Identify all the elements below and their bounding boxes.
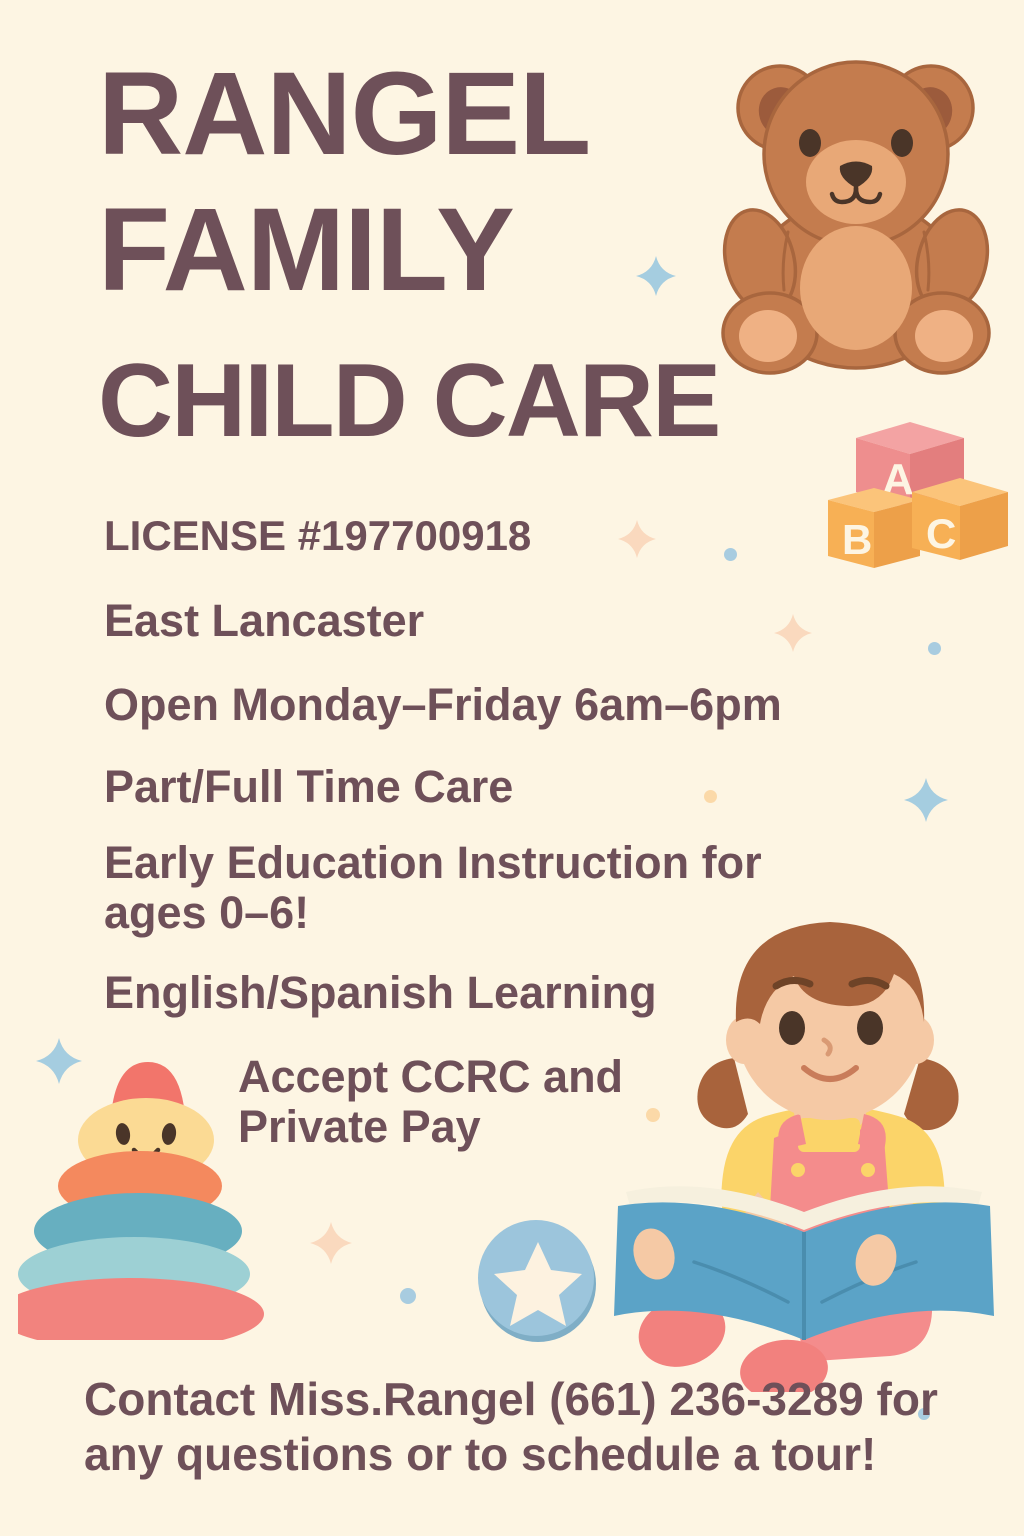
dot-peach-icon xyxy=(704,790,717,803)
sparkle-peach-icon xyxy=(310,1222,352,1264)
sparkle-blue-icon xyxy=(904,778,948,822)
block-b: B xyxy=(828,488,920,568)
sparkle-blue-icon xyxy=(636,256,676,296)
dot-blue-icon xyxy=(724,548,737,561)
detail-language: English/Spanish Learning xyxy=(104,968,657,1018)
abc-blocks-illustration: A B C xyxy=(826,396,1016,586)
detail-early-education: Early Education Instruction for ages 0–6… xyxy=(104,838,784,939)
dot-blue-icon xyxy=(400,1288,416,1304)
dot-blue-icon xyxy=(928,642,941,655)
star-ball-illustration xyxy=(474,1218,602,1344)
ring-stacker-illustration xyxy=(18,1050,268,1340)
girl-reading-illustration xyxy=(598,862,1022,1392)
svg-text:B: B xyxy=(842,516,872,563)
detail-payment: Accept CCRC and Private Pay xyxy=(238,1052,658,1153)
block-c: C xyxy=(912,478,1008,560)
teddy-bear-illustration xyxy=(718,36,1018,381)
childcare-flyer: RANGEL FAMILY CHILD CARE LICENSE #197700… xyxy=(0,0,1024,1536)
detail-location: East Lancaster xyxy=(104,596,424,646)
contact-info: Contact Miss.Rangel (661) 236-3289 for a… xyxy=(84,1372,964,1482)
sparkle-peach-icon xyxy=(774,614,812,652)
headline-line-1: RANGEL xyxy=(98,60,590,169)
svg-text:C: C xyxy=(926,510,956,557)
sparkle-peach-icon xyxy=(618,520,656,558)
headline-line-2: FAMILY xyxy=(98,196,514,305)
detail-hours: Open Monday–Friday 6am–6pm xyxy=(104,680,782,730)
headline-line-3: CHILD CARE xyxy=(98,354,719,450)
detail-part-full-time: Part/Full Time Care xyxy=(104,762,513,812)
license-number: LICENSE #197700918 xyxy=(104,512,531,560)
